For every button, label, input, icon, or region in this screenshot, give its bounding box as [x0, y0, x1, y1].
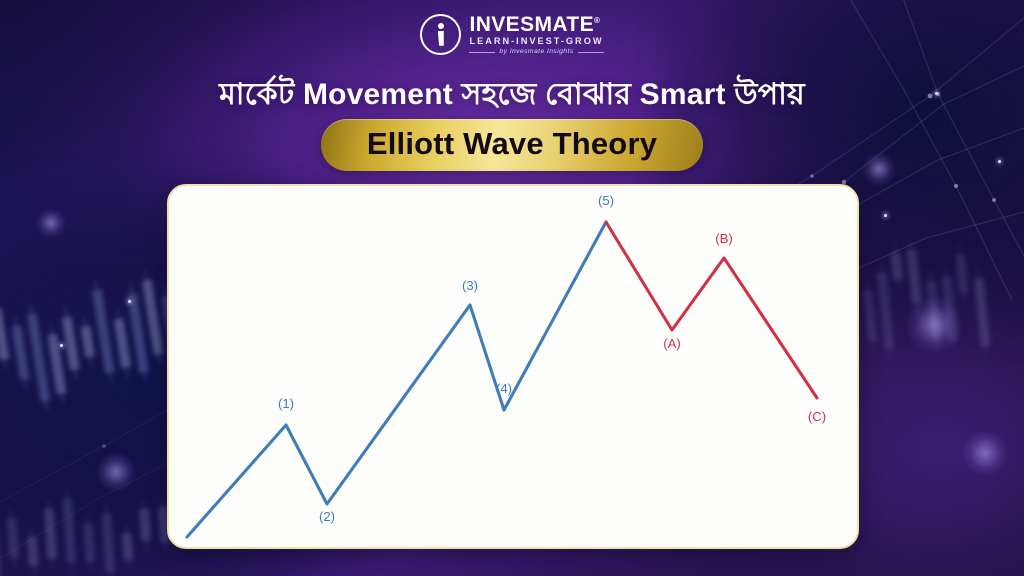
wave-point-label: (B)	[715, 231, 733, 246]
badge-row: Elliott Wave Theory	[0, 119, 1024, 171]
wave-point-label: (2)	[319, 509, 335, 524]
chart-card: (1)(2)(3)(4)(5)(A)(B)(C)	[167, 184, 859, 549]
bokeh-dot	[962, 430, 1008, 476]
wave-point-label: (4)	[496, 381, 512, 396]
wave-point-label: (1)	[278, 396, 294, 411]
topic-badge: Elliott Wave Theory	[321, 119, 703, 171]
invesmate-circle-i-logo-icon	[420, 14, 461, 55]
wave-point-label: (C)	[808, 409, 826, 424]
bokeh-dot	[905, 296, 963, 354]
brand-sub-tagline: by Invesmate Insights	[499, 49, 573, 56]
sparkle-dot	[884, 214, 887, 217]
rule-right	[578, 52, 604, 53]
page-title: মার্কেট Movement সহজে বোঝার Smart উপায়	[0, 70, 1024, 121]
trademark-symbol: ®	[594, 16, 600, 25]
rule-left	[469, 52, 495, 53]
elliott-wave-chart: (1)(2)(3)(4)(5)(A)(B)(C)	[169, 186, 857, 547]
brand-tagline: LEARN-INVEST-GROW	[469, 37, 603, 46]
sparkle-dot	[60, 344, 63, 347]
wave-point-label: (A)	[663, 336, 681, 351]
wave-line	[606, 222, 817, 398]
brand-name-text: INVESMATE	[469, 13, 594, 36]
bokeh-dot	[36, 208, 66, 238]
wave-point-label: (3)	[462, 278, 478, 293]
brand-name: INVESMATE®	[469, 14, 603, 35]
bokeh-dot	[96, 452, 136, 492]
wave-line	[187, 222, 606, 537]
brand-sub-tagline-row: by Invesmate Insights	[469, 49, 603, 56]
sparkle-dot	[128, 300, 131, 303]
slide-canvas: INVESMATE® LEARN-INVEST-GROW by Invesmat…	[0, 0, 1024, 576]
wave-point-label: (5)	[598, 193, 614, 208]
brand-logo: INVESMATE® LEARN-INVEST-GROW by Invesmat…	[0, 14, 1024, 56]
